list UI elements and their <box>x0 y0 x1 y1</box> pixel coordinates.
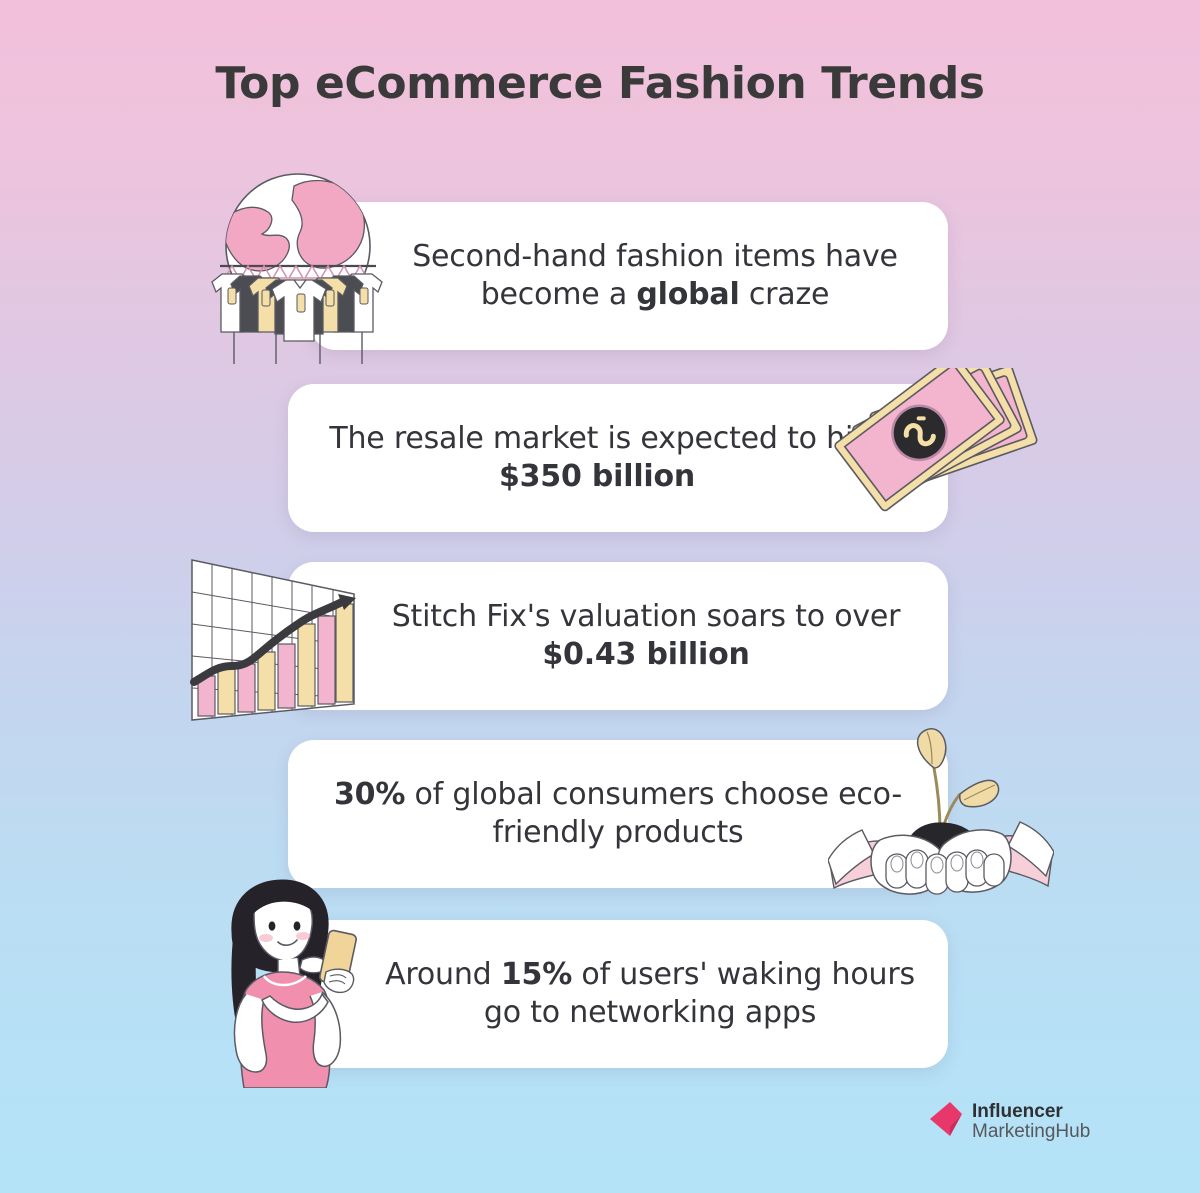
card-3-text-prefix: Stitch Fix's valuation soars to over <box>392 599 901 634</box>
trend-card-2: The resale market is expected to hit $35… <box>288 384 948 532</box>
infographic-canvas: Top eCommerce Fashion Trends Second-hand… <box>0 0 1200 1193</box>
trend-card-2-text: The resale market is expected to hit $35… <box>288 420 948 497</box>
card-2-highlight: $350 billion <box>499 459 695 494</box>
page-title: Top eCommerce Fashion Trends <box>0 58 1200 109</box>
trend-card-3: Stitch Fix's valuation soars to over $0.… <box>288 562 948 710</box>
trend-card-4: 30% of global consumers choose eco-frien… <box>288 740 948 888</box>
trend-card-4-text: 30% of global consumers choose eco-frien… <box>288 776 948 853</box>
trend-card-1: Second-hand fashion items have become a … <box>310 202 948 350</box>
trend-card-3-text: Stitch Fix's valuation soars to over $0.… <box>288 598 948 675</box>
card-3-highlight: $0.43 billion <box>542 637 749 672</box>
logo-marketing-text: Marketing <box>972 1121 1055 1142</box>
card-5-highlight: 15% <box>501 957 572 992</box>
trend-card-5: Around 15% of users' waking hours go to … <box>288 920 948 1068</box>
card-2-text-prefix: The resale market is expected to hit <box>329 421 864 456</box>
card-4-text-suffix: of global consumers choose eco-friendly … <box>405 777 902 850</box>
logo-influencer-text: Influencer <box>972 1101 1063 1122</box>
trend-card-5-text: Around 15% of users' waking hours go to … <box>288 956 948 1033</box>
influencer-marketing-hub-logo[interactable]: Influencer MarketingHub <box>928 1098 1090 1145</box>
card-1-highlight: global <box>636 277 739 312</box>
logo-line-1: Influencer <box>972 1102 1090 1122</box>
logo-arrow-icon <box>928 1098 970 1145</box>
card-4-highlight: 30% <box>334 777 405 812</box>
logo-line-2: MarketingHub <box>972 1122 1090 1142</box>
logo-hub-text: Hub <box>1055 1121 1090 1142</box>
card-1-text-suffix: craze <box>740 277 830 312</box>
card-5-text-prefix: Around <box>385 957 501 992</box>
logo-wordmark: Influencer MarketingHub <box>972 1102 1090 1142</box>
trend-card-1-text: Second-hand fashion items have become a … <box>310 238 948 315</box>
